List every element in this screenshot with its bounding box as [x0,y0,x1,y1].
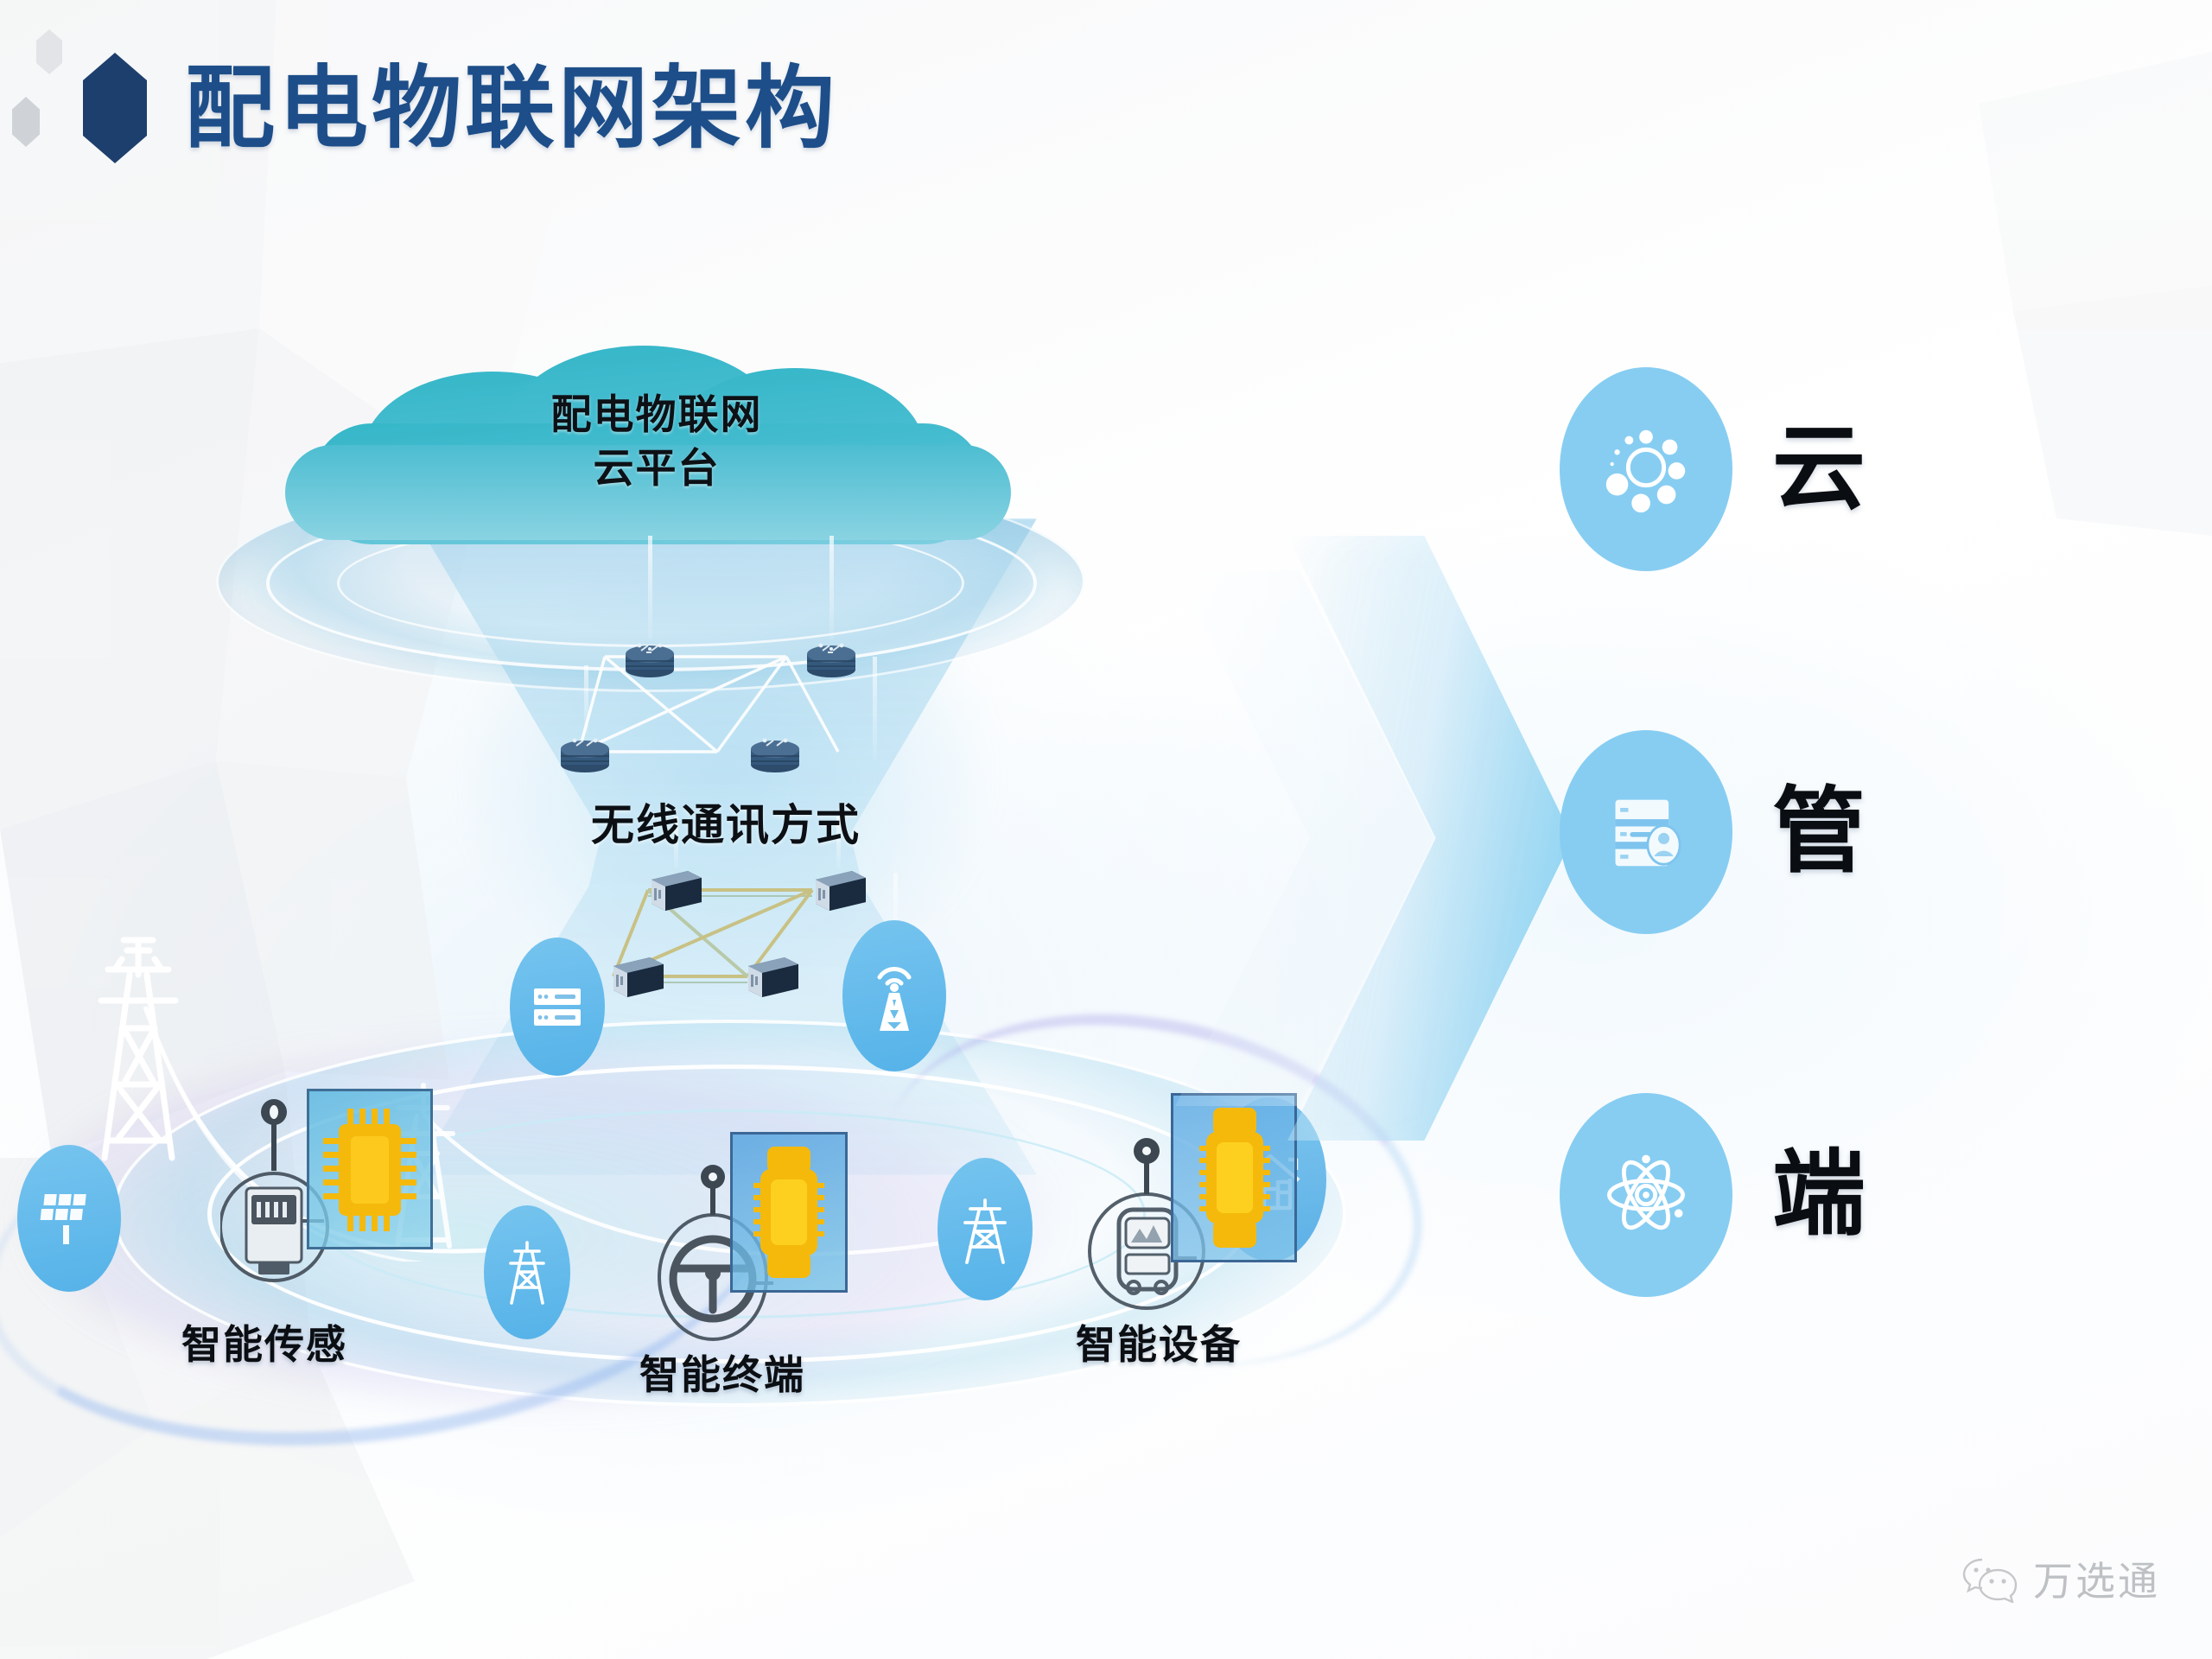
slide-canvas: 配电物联网架构 配电物联网 云平台 [0,0,2212,1659]
cloud-dots-icon [1560,367,1732,571]
layer-label-sensing: 智能传感 [181,1313,347,1370]
right-label-edge: 端 [1772,1148,1867,1242]
beam-line [648,536,652,639]
router-icon [622,635,677,680]
server-rack-icon [510,938,605,1076]
router-icon [747,730,803,775]
cell-tower-icon [842,920,946,1071]
cloud-label-line2: 云平台 [285,442,1028,496]
cloud-platform: 配电物联网 云平台 [285,328,1028,613]
right-label-cloud: 云 [1772,423,1867,516]
right-item-manage[interactable]: 管 [1560,730,1867,934]
wechat-icon [1962,1554,2018,1603]
page-header: 配电物联网架构 [35,48,838,168]
wireless-comm-label: 无线通讯方式 [484,791,968,853]
network-switch-icon [812,864,869,912]
watermark: 万选通 [1962,1550,2160,1607]
network-switch-icon [648,864,705,912]
router-icon [804,635,859,680]
cpu-chip-icon [307,1089,433,1249]
beam-line [829,536,834,639]
atom-icon [1560,1093,1732,1297]
page-title: 配电物联网架构 [185,63,838,153]
beam-line [873,657,877,760]
power-pylon-icon [938,1158,1033,1300]
hexagon-icon [83,53,147,163]
router-mesh-links [553,622,950,812]
network-switch-icon [745,950,802,999]
router-icon [557,730,613,775]
smart-watch-icon [730,1132,848,1293]
cloud-label-line1: 配电物联网 [285,389,1028,442]
watermark-text: 万选通 [2033,1550,2160,1607]
beam-line [584,665,588,734]
layer-label-terminal: 智能终端 [639,1344,805,1401]
right-item-cloud[interactable]: 云 [1560,367,1867,571]
smart-watch-icon [1171,1093,1297,1262]
right-item-edge[interactable]: 端 [1560,1093,1867,1297]
power-pylon-icon [484,1205,570,1339]
solar-panel-icon [17,1145,121,1292]
right-label-manage: 管 [1772,785,1867,879]
layer-label-equipment: 智能设备 [1076,1313,1242,1370]
server-manage-icon [1560,730,1732,934]
cloud-platform-label: 配电物联网 云平台 [285,389,1028,496]
